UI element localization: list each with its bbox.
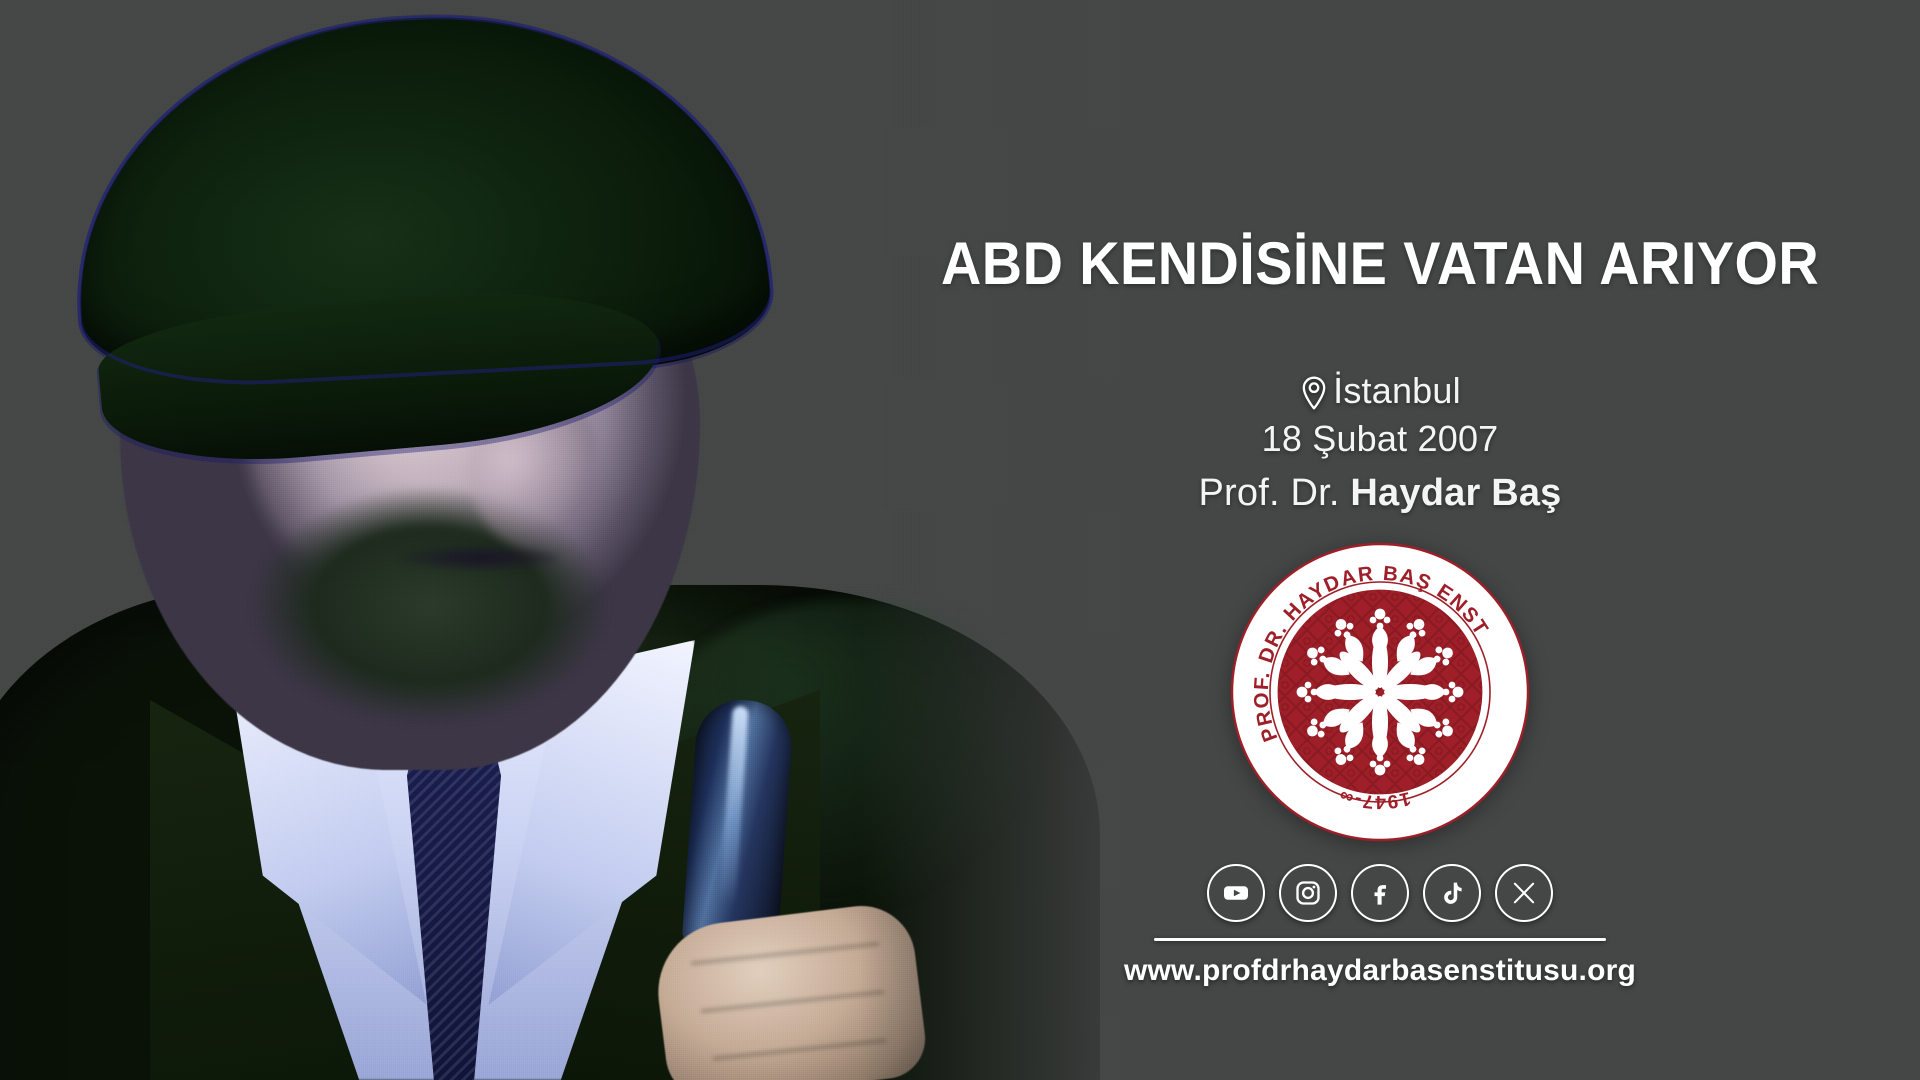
page-title: ABD KENDİSİNE VATAN ARIYOR [941, 232, 1819, 295]
youtube-icon[interactable] [1207, 864, 1265, 922]
slide-canvas: ABD KENDİSİNE VATAN ARIYOR İstanbul 18 Ş… [0, 0, 1920, 1080]
facebook-icon[interactable] [1351, 864, 1409, 922]
location-pin-icon [1299, 374, 1329, 408]
speaker-name: Haydar Baş [1350, 468, 1561, 518]
website-url[interactable]: www.profdrhaydarbasenstitusu.org [1124, 954, 1636, 988]
content-column: ABD KENDİSİNE VATAN ARIYOR İstanbul 18 Ş… [840, 0, 1920, 1080]
event-location-line: İstanbul [1299, 367, 1461, 415]
event-meta: İstanbul 18 Şubat 2007 Prof. Dr. Haydar … [1198, 367, 1561, 518]
social-links[interactable] [1207, 864, 1553, 922]
event-location: İstanbul [1333, 367, 1461, 415]
instagram-icon[interactable] [1279, 864, 1337, 922]
footer-divider [1154, 938, 1606, 941]
event-date: 18 Şubat 2007 [1262, 415, 1499, 463]
tiktok-icon[interactable] [1423, 864, 1481, 922]
institute-logo: PROF. DR. HAYDAR BAŞ ENSTİTÜSÜ 1947-∞ [1230, 542, 1530, 842]
x-icon[interactable] [1495, 864, 1553, 922]
speaker-line: Prof. Dr. Haydar Baş [1198, 468, 1561, 518]
speaker-title: Prof. Dr. [1198, 468, 1339, 518]
